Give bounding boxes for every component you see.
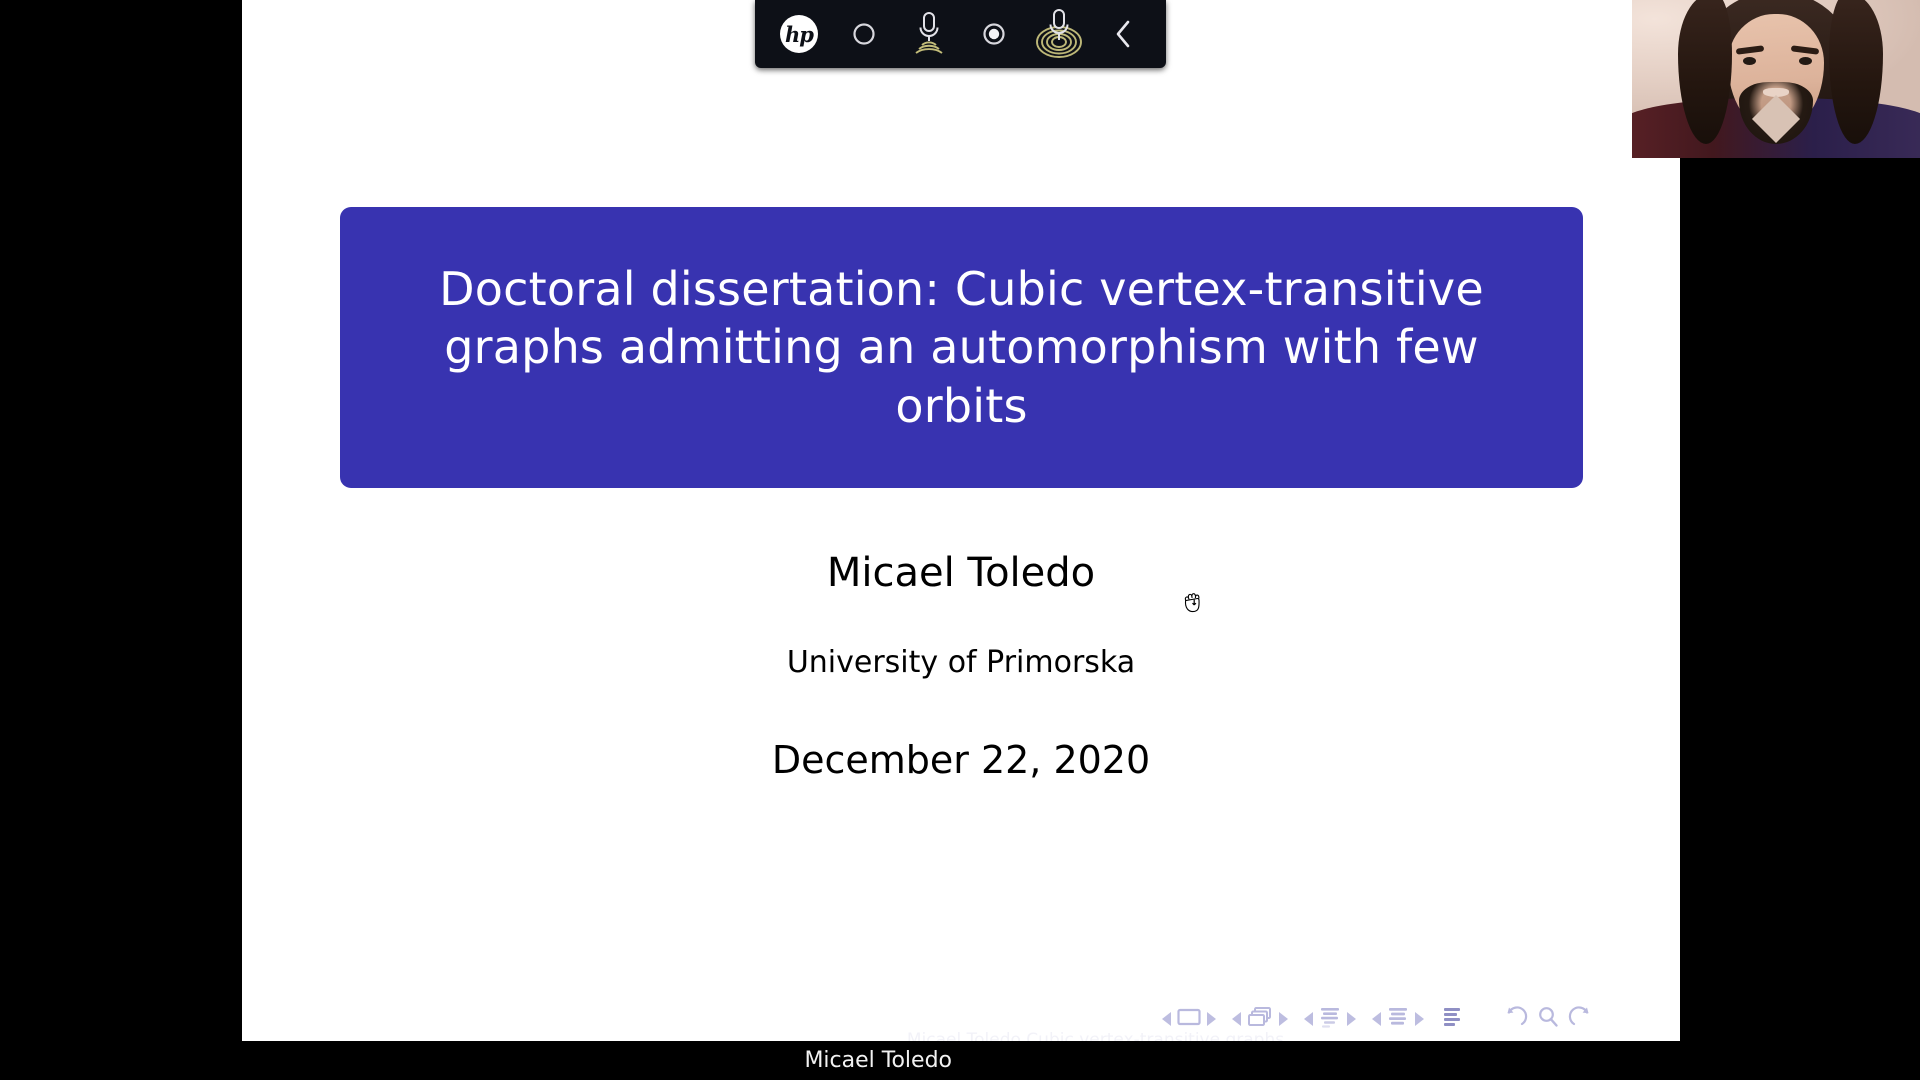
next-slide-button[interactable] (1207, 1012, 1216, 1026)
prev-frame-button[interactable] (1232, 1012, 1241, 1026)
grabbing-hand-cursor (1183, 589, 1205, 615)
microphone-mute-icon[interactable] (905, 7, 953, 61)
next-frame-button[interactable] (1279, 1012, 1288, 1026)
prev-subsection-button[interactable] (1304, 1012, 1313, 1026)
record-icon[interactable] (970, 7, 1018, 61)
collapse-icon[interactable] (1100, 7, 1148, 61)
nav-group-document (1440, 1005, 1464, 1034)
nav-group-tools (1502, 1005, 1594, 1034)
slide-author: Micael Toledo (242, 550, 1680, 596)
slide-title: Doctoral dissertation: Cubic vertex-tran… (417, 260, 1507, 435)
camera-off-icon[interactable] (840, 7, 888, 61)
presenter-name-label: Micael Toledo (0, 1041, 995, 1080)
prev-section-button[interactable] (1372, 1012, 1381, 1026)
microphone-icon[interactable] (1035, 7, 1083, 61)
document-icon[interactable] (1440, 1005, 1464, 1034)
slide-date: December 22, 2020 (242, 738, 1680, 782)
webcam-eye-right (1799, 57, 1812, 65)
slide-title-block: Doctoral dissertation: Cubic vertex-tran… (340, 207, 1583, 488)
next-section-button[interactable] (1415, 1012, 1424, 1026)
slide-icon[interactable] (1176, 1007, 1202, 1032)
hp-capture-toolbar[interactable]: hp (755, 0, 1166, 68)
search-icon[interactable] (1537, 1005, 1559, 1034)
webcam-self-view[interactable] (1632, 0, 1920, 158)
forward-icon[interactable] (1568, 1005, 1594, 1034)
hp-logo[interactable]: hp (775, 7, 823, 61)
presentation-slide[interactable]: Doctoral dissertation: Cubic vertex-tran… (242, 0, 1680, 1041)
back-icon[interactable] (1502, 1005, 1528, 1034)
webcam-eye-left (1743, 57, 1756, 65)
prev-slide-button[interactable] (1162, 1012, 1171, 1026)
slide-institute: University of Primorska (242, 645, 1680, 680)
nav-group-slide (1162, 1007, 1216, 1032)
screen-share-viewport: Doctoral dissertation: Cubic vertex-tran… (0, 0, 1920, 1080)
next-subsection-button[interactable] (1347, 1012, 1356, 1026)
